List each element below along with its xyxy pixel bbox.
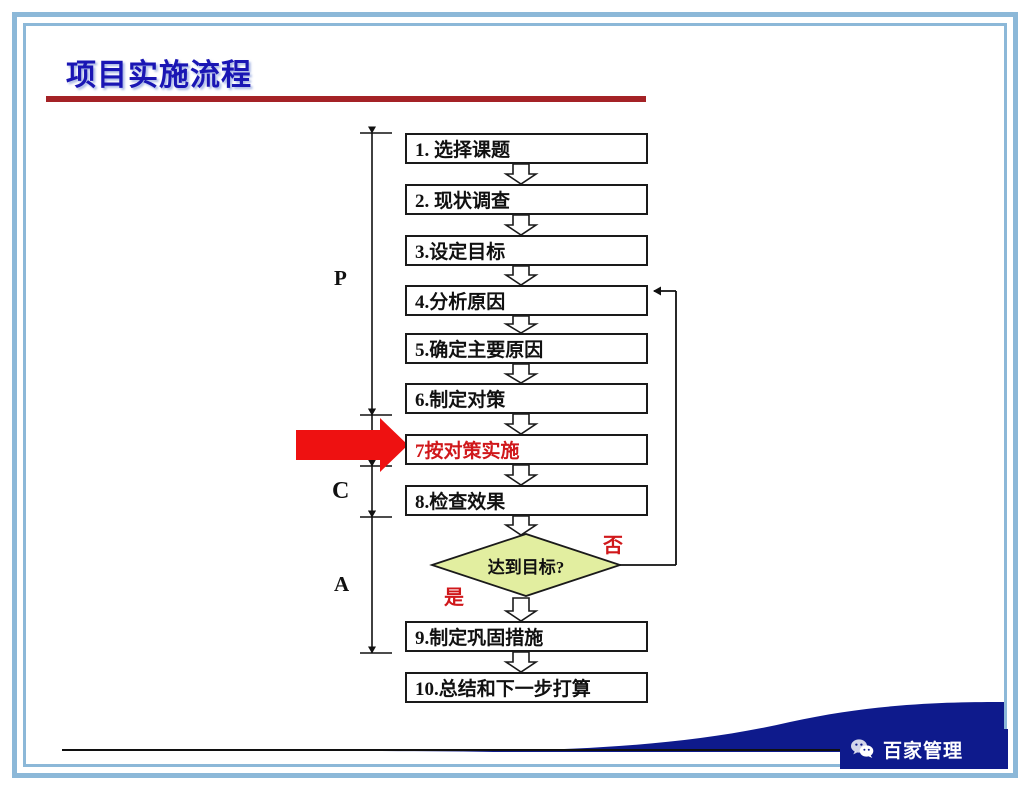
phase-label-p: P <box>334 266 347 291</box>
phase-label-a: A <box>334 572 349 597</box>
flow-node-6[interactable]: 6.制定对策 <box>405 383 648 414</box>
flow-node-9[interactable]: 9.制定巩固措施 <box>405 621 648 652</box>
wechat-icon <box>850 738 876 760</box>
watermark-badge: 百家管理 <box>840 729 1008 769</box>
flow-node-4[interactable]: 4.分析原因 <box>405 285 648 316</box>
edge-label-no: 否 <box>603 529 623 558</box>
watermark-label: 百家管理 <box>883 736 963 763</box>
red-pointer-arrow <box>296 418 408 472</box>
flow-node-2[interactable]: 2. 现状调查 <box>405 184 648 215</box>
phase-label-c: C <box>332 478 349 505</box>
flow-node-1[interactable]: 1. 选择课题 <box>405 133 648 164</box>
slide-canvas: 项目实施流程 <box>0 0 1030 790</box>
flow-node-3[interactable]: 3.设定目标 <box>405 235 648 266</box>
flow-node-5[interactable]: 5.确定主要原因 <box>405 333 648 364</box>
flow-node-7[interactable]: 7按对策实施 <box>405 434 648 465</box>
edge-label-yes: 是 <box>444 581 464 610</box>
flow-node-10[interactable]: 10.总结和下一步打算 <box>405 672 648 703</box>
flow-node-8[interactable]: 8.检查效果 <box>405 485 648 516</box>
